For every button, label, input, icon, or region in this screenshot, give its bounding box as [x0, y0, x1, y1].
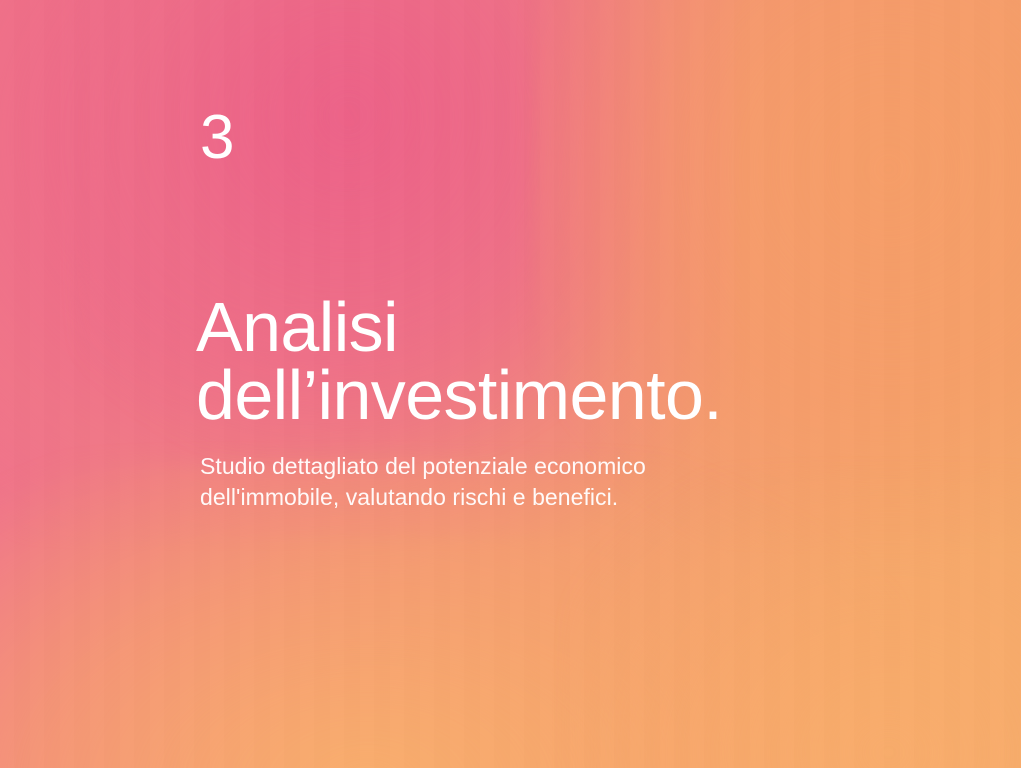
section-number: 3	[200, 107, 235, 169]
slide-content: 3 Analisi dell’investimento. Studio dett…	[200, 0, 960, 768]
slide-subtitle: Studio dettagliato del potenziale econom…	[200, 451, 646, 513]
slide-title: Analisi dell’investimento.	[196, 293, 722, 429]
slide-root: 3 Analisi dell’investimento. Studio dett…	[0, 0, 1021, 768]
